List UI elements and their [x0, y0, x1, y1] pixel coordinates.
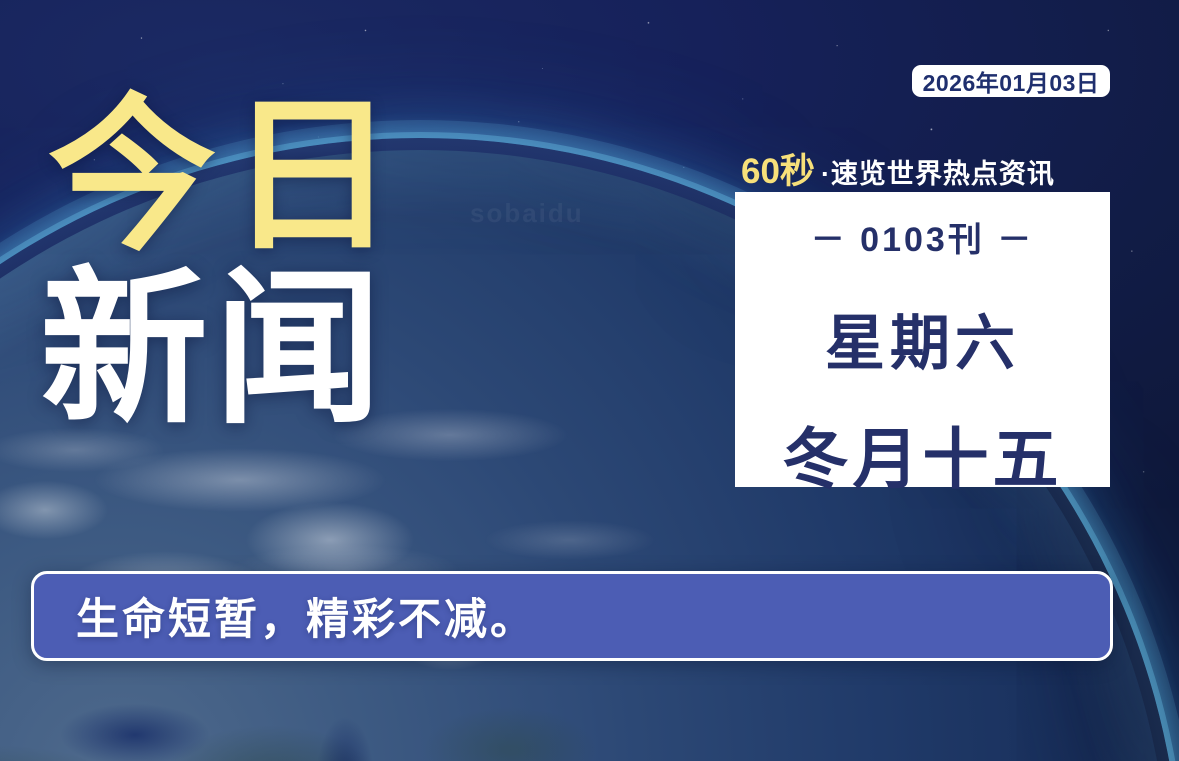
tagline-highlight: 60秒 [741, 143, 815, 194]
page-title-line2: 新闻 [40, 269, 408, 430]
weekday-label: 星期六 [825, 295, 1020, 382]
tagline: 60秒 ·速览世界热点资讯 [741, 143, 1055, 194]
watermark-text: sobaidu [470, 198, 584, 229]
date-info-card: － 0103刊 － 星期六 冬月十五 [735, 192, 1110, 487]
news-poster: sobaidu 2026年01月03日 60秒 ·速览世界热点资讯 今日 新闻 … [0, 0, 1179, 761]
page-title-line1: 今日 [48, 96, 408, 257]
quote-bar: 生命短暂，精彩不减。 [31, 571, 1113, 661]
page-title: 今日 新闻 [48, 96, 408, 431]
date-badge: 2026年01月03日 [912, 65, 1110, 97]
quote-text: 生命短暂，精彩不减。 [76, 585, 536, 647]
tagline-rest: ·速览世界热点资讯 [821, 152, 1055, 191]
issue-number: － 0103刊 － [811, 212, 1035, 261]
lunar-date-label: 冬月十五 [783, 406, 1063, 502]
